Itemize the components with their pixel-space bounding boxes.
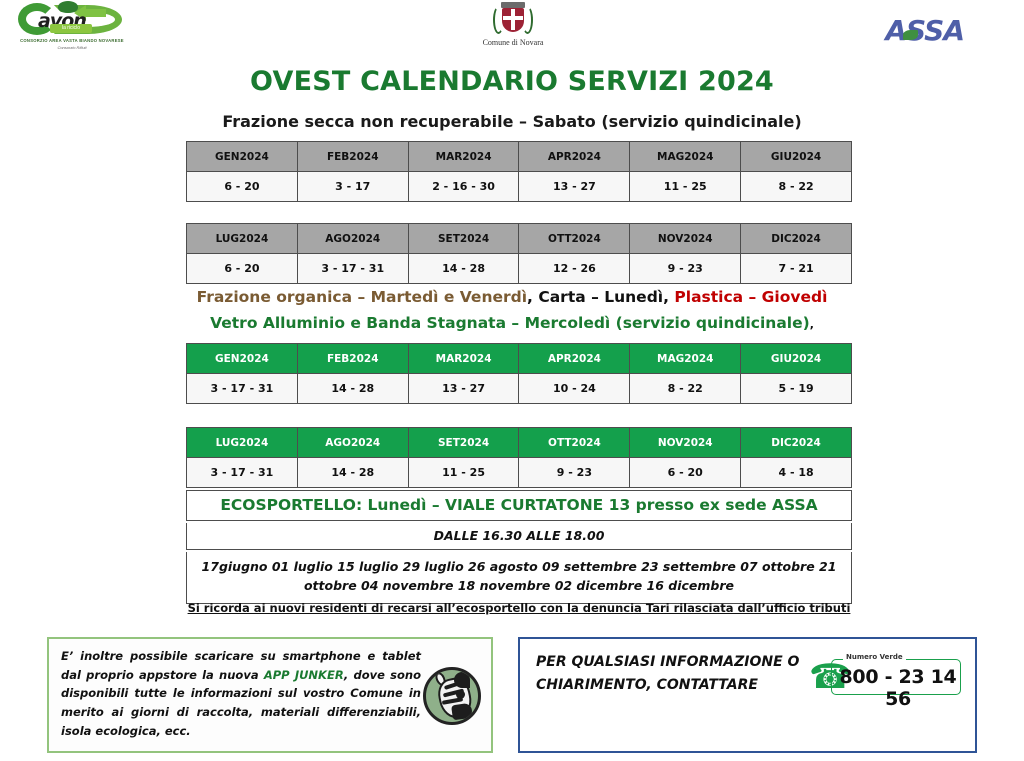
app-junker-box: E’ inoltre possibile scaricare su smartp… <box>47 637 493 753</box>
table-cell: 3 - 17 <box>297 172 408 202</box>
table-header-cell: MAR2024 <box>408 344 519 374</box>
cavon-badge-label: la riciclo <box>50 24 92 33</box>
green-number-label: Numero Verde <box>843 653 906 661</box>
green-number-value: 800 - 23 14 56 <box>837 666 959 710</box>
table-header-cell: GIU2024 <box>741 344 852 374</box>
table-cell: 14 - 28 <box>408 254 519 284</box>
header-logos: avon la riciclo CONSORZIO AREA VASTA BIA… <box>0 0 1024 52</box>
table-cell: 7 - 21 <box>741 254 852 284</box>
ecosportello-note: Si ricorda ai nuovi residenti di recarsi… <box>186 601 852 615</box>
ecosportello-hours: DALLE 16.30 ALLE 18.00 <box>186 523 852 550</box>
ecosportello-title: ECOSPORTELLO: Lunedì – VIALE CURTATONE 1… <box>186 490 852 521</box>
comune-logo: Comune di Novara <box>458 2 568 50</box>
table-header-cell: FEB2024 <box>297 142 408 172</box>
contact-info-text: PER QUALSIASI INFORMAZIONE O CHIARIMENTO… <box>536 651 806 696</box>
table-header-cell: NOV2024 <box>630 428 741 458</box>
table-cell: 14 - 28 <box>297 374 408 404</box>
contact-info-line-1: PER QUALSIASI INFORMAZIONE O <box>536 651 806 674</box>
table-cell: 8 - 22 <box>630 374 741 404</box>
trailing-comma: , <box>810 318 814 331</box>
table-header-row: LUG2024 AGO2024 SET2024 OTT2024 NOV2024 … <box>187 428 852 458</box>
table-row: 3 - 17 - 31 14 - 28 11 - 25 9 - 23 6 - 2… <box>187 458 852 488</box>
table-cell: 5 - 19 <box>741 374 852 404</box>
table-header-cell: GEN2024 <box>187 344 298 374</box>
novara-coat-of-arms-icon <box>491 2 535 36</box>
table-header-cell: SET2024 <box>408 224 519 254</box>
table-cell: 6 - 20 <box>187 254 298 284</box>
table-cell: 10 - 24 <box>519 374 630 404</box>
table-header-cell: APR2024 <box>519 344 630 374</box>
table-header-cell: NOV2024 <box>630 224 741 254</box>
green-number-badge: ☎ Numero Verde 800 - 23 14 56 <box>809 653 961 699</box>
table-header-cell: FEB2024 <box>297 344 408 374</box>
assa-wordmark: ASSA <box>885 14 964 47</box>
table-header-row: GEN2024 FEB2024 MAR2024 APR2024 MAG2024 … <box>187 142 852 172</box>
table-header-row: LUG2024 AGO2024 SET2024 OTT2024 NOV2024 … <box>187 224 852 254</box>
contact-info-box: PER QUALSIASI INFORMAZIONE O CHIARIMENTO… <box>518 637 977 753</box>
phone-handset-icon: ☎ <box>809 658 835 696</box>
separator-1: , <box>527 288 538 306</box>
table-cell: 13 - 27 <box>519 172 630 202</box>
table-header-cell: MAG2024 <box>630 344 741 374</box>
table-cell: 14 - 28 <box>297 458 408 488</box>
app-junker-text: E’ inoltre possibile scaricare su smartp… <box>61 647 421 740</box>
table-header-cell: DIC2024 <box>741 224 852 254</box>
table-header-cell: LUG2024 <box>187 428 298 458</box>
table-cell: 6 - 20 <box>630 458 741 488</box>
cavon-arrow-bar-icon <box>84 9 106 17</box>
plastic-waste-label: Plastica – Giovedì <box>674 288 827 306</box>
calendar-table-differenziata-second-half: LUG2024 AGO2024 SET2024 OTT2024 NOV2024 … <box>186 427 852 488</box>
table-cell: 9 - 23 <box>630 254 741 284</box>
table-cell: 3 - 17 - 31 <box>297 254 408 284</box>
table-header-cell: AGO2024 <box>297 224 408 254</box>
table-header-cell: LUG2024 <box>187 224 298 254</box>
cavon-subtitle-secondary: Consorzio Rifiuti <box>8 45 136 50</box>
table-header-cell: MAR2024 <box>408 142 519 172</box>
table-header-row: GEN2024 FEB2024 MAR2024 APR2024 MAG2024 … <box>187 344 852 374</box>
table-cell: 12 - 26 <box>519 254 630 284</box>
table-header-cell: GIU2024 <box>741 142 852 172</box>
zebra-eye-icon <box>456 690 465 699</box>
table-cell: 4 - 18 <box>741 458 852 488</box>
cavon-subtitle-primary: CONSORZIO AREA VASTA BIANDO NOVARESE <box>8 38 136 43</box>
table-cell: 8 - 22 <box>741 172 852 202</box>
table-header-cell: MAG2024 <box>630 142 741 172</box>
calendar-poster: avon la riciclo CONSORZIO AREA VASTA BIA… <box>0 0 1024 761</box>
zebra-muzzle-icon <box>451 703 473 721</box>
table-header-cell: OTT2024 <box>519 428 630 458</box>
table-cell: 3 - 17 - 31 <box>187 458 298 488</box>
table-row: 6 - 20 3 - 17 2 - 16 - 30 13 - 27 11 - 2… <box>187 172 852 202</box>
table-header-cell: AGO2024 <box>297 428 408 458</box>
junker-zebra-icon <box>423 667 481 725</box>
page-subtitle: Frazione secca non recuperabile – Sabato… <box>0 112 1024 131</box>
table-cell: 13 - 27 <box>408 374 519 404</box>
cavon-logo: avon la riciclo CONSORZIO AREA VASTA BIA… <box>8 2 136 50</box>
separator-2: , <box>663 288 674 306</box>
comune-logo-label: Comune di Novara <box>458 38 568 47</box>
table-cell: 3 - 17 - 31 <box>187 374 298 404</box>
table-cell: 11 - 25 <box>630 172 741 202</box>
calendar-table-differenziata-first-half: GEN2024 FEB2024 MAR2024 APR2024 MAG2024 … <box>186 343 852 404</box>
cross-horizontal-icon <box>503 16 523 20</box>
paper-waste-label: Carta – Lunedì <box>538 288 663 306</box>
page-title: OVEST CALENDARIO SERVIZI 2024 <box>0 66 1024 97</box>
calendar-table-secco-first-half: GEN2024 FEB2024 MAR2024 APR2024 MAG2024 … <box>186 141 852 202</box>
table-cell: 9 - 23 <box>519 458 630 488</box>
table-row: 6 - 20 3 - 17 - 31 14 - 28 12 - 26 9 - 2… <box>187 254 852 284</box>
contact-info-line-2: CHIARIMENTO, CONTATTARE <box>536 674 806 697</box>
collection-days-line-1: Frazione organica – Martedì e Venerdì, C… <box>0 288 1024 306</box>
cavon-logo-mark: avon la riciclo <box>8 2 136 36</box>
assa-logo: ASSA <box>885 14 964 47</box>
zebra-mane-icon <box>454 672 470 688</box>
table-cell: 6 - 20 <box>187 172 298 202</box>
table-header-cell: DIC2024 <box>741 428 852 458</box>
organic-waste-label: Frazione organica – Martedì e Venerdì <box>197 288 527 306</box>
table-header-cell: GEN2024 <box>187 142 298 172</box>
table-row: 3 - 17 - 31 14 - 28 13 - 27 10 - 24 8 - … <box>187 374 852 404</box>
table-cell: 11 - 25 <box>408 458 519 488</box>
table-header-cell: OTT2024 <box>519 224 630 254</box>
table-header-cell: APR2024 <box>519 142 630 172</box>
app-junker-name: APP JUNKER <box>264 668 344 682</box>
calendar-table-secco-second-half: LUG2024 AGO2024 SET2024 OTT2024 NOV2024 … <box>186 223 852 284</box>
ecosportello-dates: 17giugno 01 luglio 15 luglio 29 luglio 2… <box>186 552 852 604</box>
table-header-cell: SET2024 <box>408 428 519 458</box>
collection-days-line-2: Vetro Alluminio e Banda Stagnata – Merco… <box>0 314 1024 332</box>
glass-metal-waste-label: Vetro Alluminio e Banda Stagnata – Merco… <box>210 314 810 332</box>
table-cell: 2 - 16 - 30 <box>408 172 519 202</box>
